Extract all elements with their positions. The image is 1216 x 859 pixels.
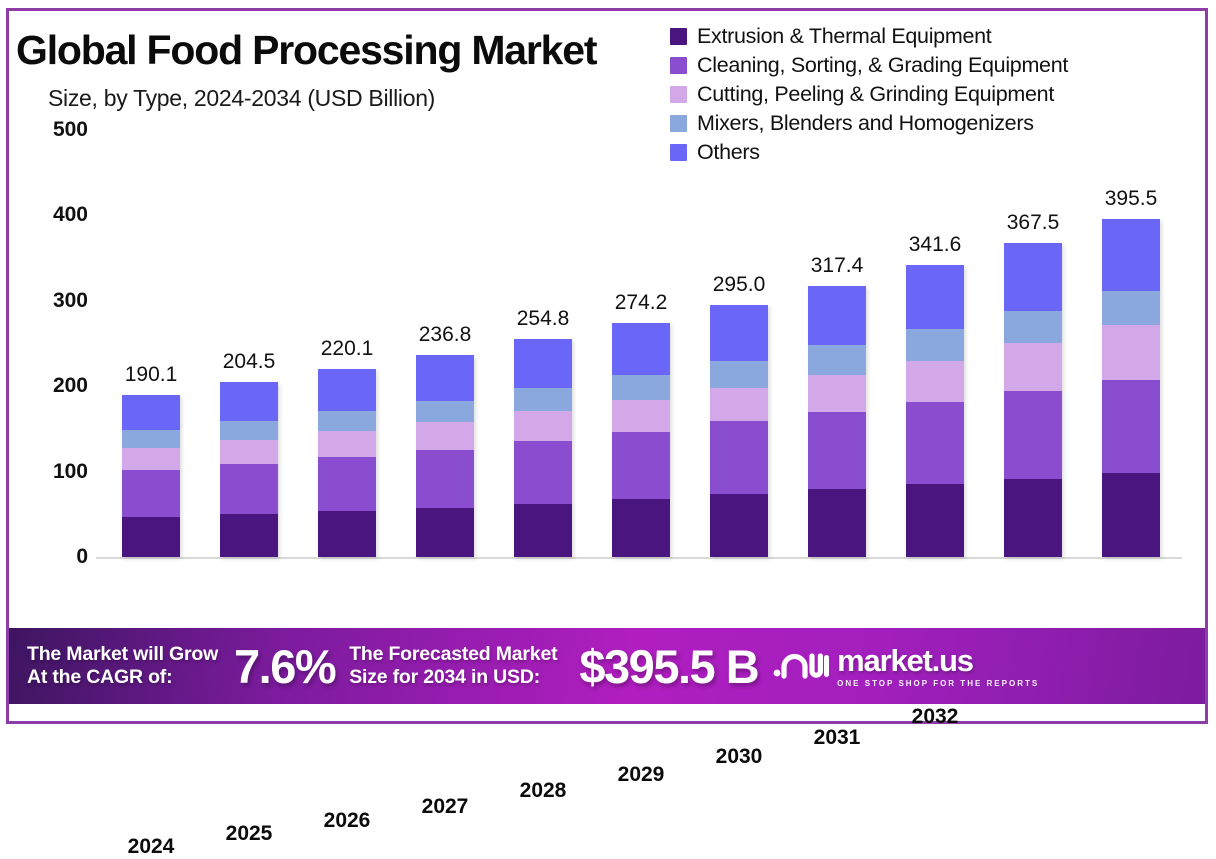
bar-total-label: 254.8	[517, 307, 570, 331]
x-axis-tick-label: 2026	[324, 809, 371, 833]
bar-segment[interactable]	[220, 440, 278, 465]
bar-total-label: 204.5	[223, 350, 276, 374]
x-axis-tick-label: 2031	[814, 726, 861, 750]
y-axis-tick-label: 400	[53, 203, 88, 227]
bar-segment[interactable]	[906, 484, 964, 557]
stacked-bar[interactable]	[514, 339, 572, 557]
market-us-wordmark: market.us ONE STOP SHOP FOR THE REPORTS	[837, 645, 1039, 688]
bar-segment[interactable]	[612, 400, 670, 432]
logo-name: market.us	[837, 645, 1039, 676]
bar-total-label: 295.0	[713, 273, 766, 297]
bar-segment[interactable]	[1102, 219, 1160, 291]
stacked-bar[interactable]	[220, 382, 278, 557]
bar-segment[interactable]	[1102, 325, 1160, 380]
bar-group-2033[interactable]: 367.52033	[1004, 243, 1062, 557]
bar-segment[interactable]	[318, 411, 376, 431]
x-axis-tick-label: 2027	[422, 795, 469, 819]
legend-swatch-icon	[670, 57, 687, 74]
stacked-bar[interactable]	[906, 265, 964, 557]
legend-swatch-icon	[670, 28, 687, 45]
cagr-caption-line1: The Market will Grow	[27, 643, 218, 666]
bar-segment[interactable]	[318, 457, 376, 511]
bar-segment[interactable]	[808, 345, 866, 375]
x-axis-tick-label: 2032	[912, 705, 959, 729]
legend-item-0[interactable]: Extrusion & Thermal Equipment	[670, 22, 1200, 51]
stacked-bar[interactable]	[1102, 219, 1160, 557]
cagr-caption-line2: At the CAGR of:	[27, 666, 218, 689]
bar-total-label: 236.8	[419, 323, 472, 347]
bar-segment[interactable]	[710, 361, 768, 388]
legend-item-1[interactable]: Cleaning, Sorting, & Grading Equipment	[670, 51, 1200, 80]
page-title: Global Food Processing Market	[16, 30, 696, 71]
bar-segment[interactable]	[1004, 243, 1062, 310]
bar-segment[interactable]	[808, 489, 866, 557]
bar-segment[interactable]	[1004, 479, 1062, 557]
legend-swatch-icon	[670, 86, 687, 103]
page-subtitle: Size, by Type, 2024-2034 (USD Billion)	[48, 85, 435, 112]
cagr-caption: The Market will Grow At the CAGR of:	[27, 643, 218, 689]
x-axis-line	[96, 557, 1182, 559]
bar-total-label: 274.2	[615, 291, 668, 315]
bar-group-2031[interactable]: 317.42031	[808, 286, 866, 557]
bar-group-2028[interactable]: 254.82028	[514, 339, 572, 557]
legend-item-2[interactable]: Cutting, Peeling & Grinding Equipment	[670, 80, 1200, 109]
bar-total-label: 220.1	[321, 337, 374, 361]
stacked-bar[interactable]	[1004, 243, 1062, 557]
forecast-caption: The Forecasted Market Size for 2034 in U…	[349, 643, 557, 689]
x-axis-tick-label: 2024	[128, 835, 175, 859]
bar-segment[interactable]	[416, 401, 474, 422]
bar-segment[interactable]	[1004, 343, 1062, 390]
bar-group-2025[interactable]: 204.52025	[220, 382, 278, 557]
infographic-root: Global Food Processing Market Size, by T…	[0, 0, 1216, 732]
bar-segment[interactable]	[220, 464, 278, 514]
stacked-bar[interactable]	[122, 395, 180, 557]
bar-segment[interactable]	[416, 355, 474, 401]
bar-segment[interactable]	[1004, 391, 1062, 479]
stacked-bar[interactable]	[808, 286, 866, 557]
forecast-value: $395.5 B	[579, 639, 758, 694]
bar-group-2029[interactable]: 274.22029	[612, 323, 670, 557]
forecast-caption-line1: The Forecasted Market	[349, 643, 557, 666]
x-axis-tick-label: 2025	[226, 822, 273, 846]
bar-segment[interactable]	[1102, 291, 1160, 325]
bar-total-label: 317.4	[811, 254, 864, 278]
legend-item-label: Extrusion & Thermal Equipment	[697, 24, 991, 49]
bar-total-label: 190.1	[125, 363, 178, 387]
market-us-logo[interactable]: market.us ONE STOP SHOP FOR THE REPORTS	[772, 645, 1039, 688]
bar-segment[interactable]	[612, 375, 670, 400]
bar-segment[interactable]	[906, 329, 964, 361]
logo-tagline: ONE STOP SHOP FOR THE REPORTS	[837, 679, 1039, 688]
bar-segment[interactable]	[710, 421, 768, 494]
y-axis-tick-label: 0	[76, 545, 88, 569]
legend-item-label: Cleaning, Sorting, & Grading Equipment	[697, 53, 1068, 78]
cagr-value: 7.6%	[234, 639, 335, 694]
bar-segment[interactable]	[514, 504, 572, 557]
y-axis-tick-label: 200	[53, 374, 88, 398]
bar-segment[interactable]	[612, 499, 670, 557]
y-axis-tick-label: 100	[53, 460, 88, 484]
bar-segment[interactable]	[318, 431, 376, 457]
bar-segment[interactable]	[710, 388, 768, 422]
bar-segment[interactable]	[416, 450, 474, 508]
bar-segment[interactable]	[122, 470, 180, 517]
bar-segment[interactable]	[710, 305, 768, 361]
bar-segment[interactable]	[906, 361, 964, 402]
stacked-bar[interactable]	[710, 305, 768, 557]
bar-segment[interactable]	[710, 494, 768, 557]
bar-segment[interactable]	[906, 265, 964, 329]
bar-segment[interactable]	[514, 388, 572, 411]
bar-segment[interactable]	[122, 517, 180, 557]
bar-segment[interactable]	[220, 421, 278, 439]
bar-segment[interactable]	[514, 411, 572, 441]
bar-segment[interactable]	[514, 441, 572, 504]
bar-segment[interactable]	[220, 514, 278, 557]
bar-segment[interactable]	[1102, 473, 1160, 557]
bar-segment[interactable]	[612, 323, 670, 376]
bar-segment[interactable]	[318, 511, 376, 557]
legend-item-label: Cutting, Peeling & Grinding Equipment	[697, 82, 1054, 107]
y-axis-tick-label: 500	[53, 118, 88, 142]
bar-segment[interactable]	[416, 422, 474, 450]
chart-plot-area: 0100200300400500 190.12024204.52025220.1…	[96, 130, 1186, 560]
bar-segment[interactable]	[220, 382, 278, 421]
y-axis-tick-label: 300	[53, 289, 88, 313]
bar-total-label: 367.5	[1007, 211, 1060, 235]
bar-segment[interactable]	[808, 286, 866, 345]
stacked-bar[interactable]	[416, 355, 474, 557]
x-axis-tick-label: 2030	[716, 745, 763, 769]
bar-group-2024[interactable]: 190.12024	[122, 395, 180, 557]
bar-segment[interactable]	[122, 430, 180, 447]
market-us-mark-icon	[772, 646, 830, 687]
bar-total-label: 395.5	[1105, 187, 1158, 211]
bar-group-2027[interactable]: 236.82027	[416, 355, 474, 557]
bar-segment[interactable]	[906, 402, 964, 484]
stacked-bar[interactable]	[612, 323, 670, 557]
bar-segment[interactable]	[1004, 311, 1062, 344]
stacked-bar[interactable]	[318, 369, 376, 557]
bar-segment[interactable]	[122, 448, 180, 471]
bottom-banner: The Market will Grow At the CAGR of: 7.6…	[9, 628, 1205, 704]
bar-segment[interactable]	[808, 412, 866, 490]
bar-segment[interactable]	[122, 395, 180, 431]
bar-segment[interactable]	[1102, 380, 1160, 473]
bar-segment[interactable]	[514, 339, 572, 388]
x-axis-tick-label: 2028	[520, 779, 567, 803]
bar-group-2026[interactable]: 220.12026	[318, 369, 376, 557]
bar-group-2030[interactable]: 295.02030	[710, 305, 768, 557]
bar-group-2032[interactable]: 341.62032	[906, 265, 964, 557]
bar-group-2034[interactable]: 395.52034	[1102, 219, 1160, 557]
x-axis-tick-label: 2029	[618, 763, 665, 787]
bar-segment[interactable]	[318, 369, 376, 411]
bar-segment[interactable]	[808, 375, 866, 412]
bar-total-label: 341.6	[909, 233, 962, 257]
bar-segment[interactable]	[612, 432, 670, 500]
bar-segment[interactable]	[416, 508, 474, 557]
forecast-caption-line2: Size for 2034 in USD:	[349, 666, 557, 689]
